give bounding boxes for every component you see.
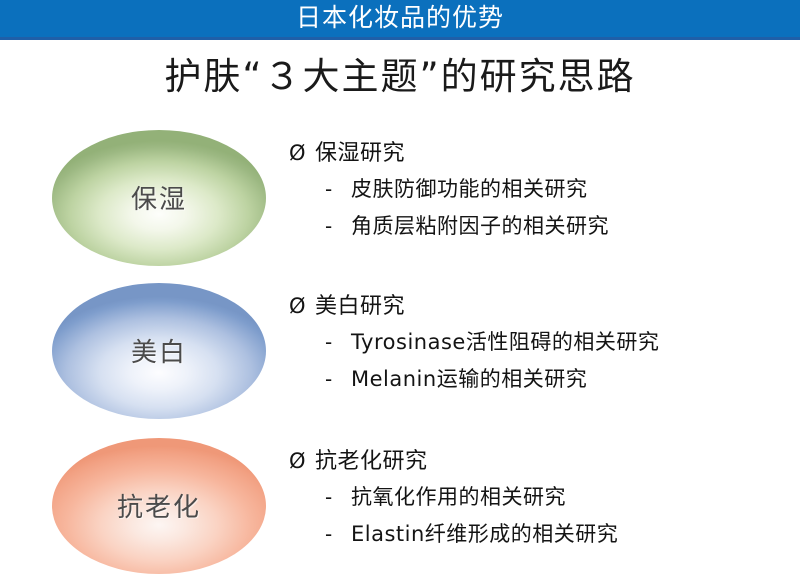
bullet-slashed-o-icon: Ø: [289, 136, 315, 170]
topic-sub-text: 角质层粘附因子的相关研究: [351, 208, 609, 245]
topic-sub-item: - 抗氧化作用的相关研究: [289, 479, 789, 516]
topic-sub-text: Melanin运输的相关研究: [351, 361, 587, 398]
bullet-dash-icon: -: [325, 361, 351, 398]
topic-lead-line: Ø 抗老化研究: [289, 444, 789, 479]
ellipse-label: 美白: [131, 338, 187, 368]
topic-lead-text: 抗老化研究: [315, 445, 428, 479]
bullet-dash-icon: -: [325, 479, 351, 516]
topic-sub-item: - Melanin运输的相关研究: [289, 361, 789, 398]
bullet-dash-icon: -: [325, 324, 351, 361]
topic-sub-item: - 皮肤防御功能的相关研究: [289, 171, 789, 208]
ellipse-label: 抗老化: [117, 493, 201, 523]
topic-lead-line: Ø 美白研究: [289, 289, 789, 324]
topic-sub-text: Tyrosinase活性阻碍的相关研究: [351, 324, 659, 361]
ellipse-label: 保湿: [131, 185, 187, 215]
page-title: 护肤“３大主题”的研究思路: [0, 52, 800, 102]
bullet-dash-icon: -: [325, 208, 351, 245]
topic-text-block: Ø 抗老化研究 - 抗氧化作用的相关研究 - Elastin纤维形成的相关研究: [289, 444, 789, 553]
topic-ellipse-moisturizing[interactable]: 保湿: [52, 130, 266, 266]
bullet-slashed-o-icon: Ø: [289, 444, 315, 478]
bullet-slashed-o-icon: Ø: [289, 289, 315, 323]
bullet-dash-icon: -: [325, 171, 351, 208]
topic-sub-item: - 角质层粘附因子的相关研究: [289, 208, 789, 245]
topic-sub-text: 抗氧化作用的相关研究: [351, 479, 566, 516]
topic-text-block: Ø 美白研究 - Tyrosinase活性阻碍的相关研究 - Melanin运输…: [289, 289, 789, 398]
topic-sub-text: Elastin纤维形成的相关研究: [351, 516, 618, 553]
header-bar: 日本化妆品的优势: [0, 0, 800, 40]
bullet-dash-icon: -: [325, 516, 351, 553]
header-title: 日本化妆品的优势: [0, 2, 800, 34]
topic-ellipse-whitening[interactable]: 美白: [52, 283, 266, 419]
topic-text-block: Ø 保湿研究 - 皮肤防御功能的相关研究 - 角质层粘附因子的相关研究: [289, 136, 789, 245]
topic-sub-text: 皮肤防御功能的相关研究: [351, 171, 588, 208]
topic-ellipse-antiaging[interactable]: 抗老化: [52, 438, 266, 574]
topic-lead-text: 美白研究: [315, 290, 405, 324]
topic-sub-item: - Elastin纤维形成的相关研究: [289, 516, 789, 553]
topic-lead-line: Ø 保湿研究: [289, 136, 789, 171]
topic-sub-item: - Tyrosinase活性阻碍的相关研究: [289, 324, 789, 361]
topic-lead-text: 保湿研究: [315, 137, 405, 171]
topic-row: 保湿 Ø 保湿研究 - 皮肤防御功能的相关研究 - 角质层粘附因子的相关研究: [0, 128, 800, 268]
topic-row: 美白 Ø 美白研究 - Tyrosinase活性阻碍的相关研究 - Melani…: [0, 281, 800, 421]
topic-row: 抗老化 Ø 抗老化研究 - 抗氧化作用的相关研究 - Elastin纤维形成的相…: [0, 436, 800, 576]
slide-canvas: 日本化妆品的优势 护肤“３大主题”的研究思路 保湿 Ø 保湿研究 - 皮肤防御功…: [0, 0, 800, 587]
